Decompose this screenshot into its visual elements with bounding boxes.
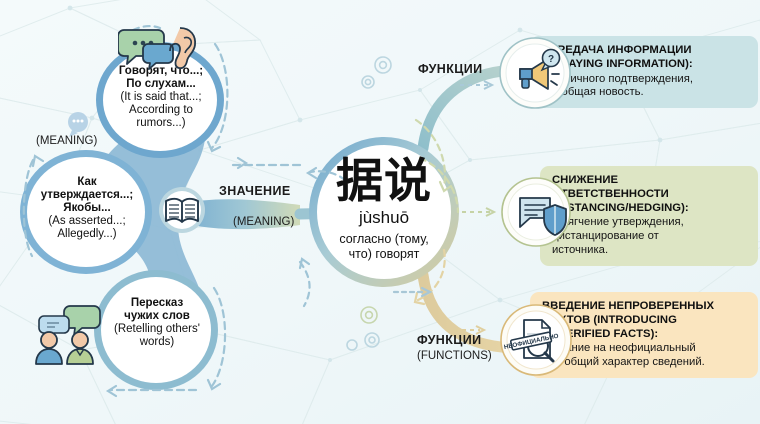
label-functions-bottom-ru: ФУНКЦИИ	[417, 333, 482, 347]
gear-icon-decor	[362, 57, 391, 88]
node-asserted-en-2: Allegedly...)	[16, 228, 158, 241]
chat-dots-icon-small	[68, 112, 88, 137]
center-gloss-line-2: что) говорят	[349, 247, 420, 261]
node-asserted-ru-1: Как	[16, 176, 158, 189]
panel-distancing-hedging[interactable]: СНИЖЕНИЕ ОТВЕТСТВЕННОСТИ (DISTANCING/HED…	[540, 166, 758, 266]
node-rumors-text: Говорят, что...; По слухам... (It is sai…	[96, 65, 226, 129]
node-retelling-en-1: (Retelling others'	[90, 323, 224, 336]
node-asserted-ru-2: утверждается...;	[16, 189, 158, 202]
node-retelling-text: Пересказ чужих слов (Retelling others' w…	[90, 297, 224, 349]
node-rumors-ru-2: По слухам...	[96, 78, 226, 91]
panel-relaying-title: ПЕРЕДАЧА ИНФОРМАЦИИ (RELAYING INFORMATIO…	[542, 44, 748, 72]
svg-text:?: ?	[548, 54, 554, 65]
node-rumors-en-1: (It is said that...;	[96, 91, 226, 104]
infographic-canvas: Говорят, что...; По слухам... (It is sai…	[0, 0, 760, 424]
panel-hedging-title: СНИЖЕНИЕ ОТВЕТСТВЕННОСТИ (DISTANCING/HED…	[552, 174, 748, 215]
label-functions-bottom-en: (FUNCTIONS)	[417, 350, 492, 362]
node-rumors-en-3: rumors...)	[96, 117, 226, 130]
node-asserted-en-1: (As asserted...;	[16, 215, 158, 228]
center-gloss-line-1: согласно (тому,	[339, 232, 428, 246]
panel-hedging-title-3: (DISTANCING/HEDGING):	[552, 202, 689, 214]
megaphone-question-icon: ?	[498, 36, 572, 110]
panel-hedging-body: Смягчение утверждения, дистанцирование о…	[552, 216, 748, 257]
center-headword-han: 据说	[324, 158, 444, 205]
node-asserted-text: Как утверждается...; Якобы... (As assert…	[16, 176, 158, 240]
chat-ear-icons-group	[118, 22, 202, 74]
node-retelling-ru-1: Пересказ	[90, 297, 224, 310]
gear-icon-decor-3	[347, 333, 379, 350]
chat-bubble-blue-icon	[143, 44, 173, 69]
open-book-icon	[163, 192, 201, 230]
person-green-icon	[67, 332, 93, 364]
two-people-talking-icon	[32, 302, 108, 366]
label-meaning-en-left: (MEANING)	[36, 135, 97, 147]
panel-relaying-body: Без личного подтверждения, как общая нов…	[542, 73, 748, 101]
node-asserted-ru-3: Якобы...	[16, 202, 158, 215]
document-magnifier-stamp-icon: НЕОФИЦИАЛЬНО	[498, 302, 574, 378]
center-headword-pinyin: jùshuō	[324, 208, 444, 228]
gear-icon-decor-2	[361, 307, 377, 323]
label-meaning-ru: ЗНАЧЕНИЕ	[219, 184, 291, 198]
center-gloss: согласно (тому, что) говорят	[316, 232, 452, 262]
speech-shield-icon	[500, 176, 572, 248]
node-rumors-en-2: According to	[96, 104, 226, 117]
person-blue-icon	[36, 332, 62, 364]
node-retelling-ru-2: чужих слов	[90, 310, 224, 323]
node-retelling-en-2: words)	[90, 336, 224, 349]
label-functions-top-ru: ФУНКЦИИ	[418, 62, 483, 76]
label-meaning-en: (MEANING)	[233, 216, 294, 228]
